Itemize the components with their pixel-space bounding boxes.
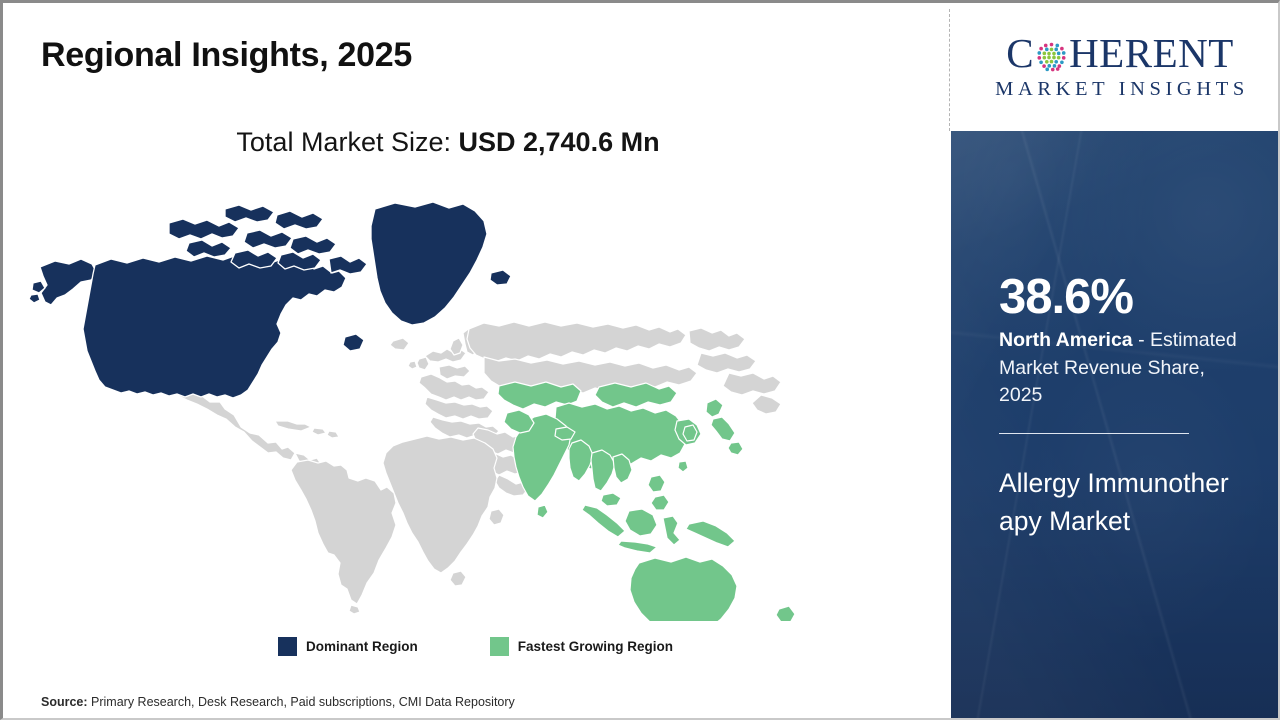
panel-divider: [949, 9, 950, 131]
legend-item-dominant: Dominant Region: [278, 637, 418, 656]
market-size-value: USD 2,740.6 Mn: [459, 127, 660, 157]
logo-tagline: MARKET INSIGHTS: [991, 78, 1249, 101]
share-region-name: North America: [999, 329, 1133, 351]
dotted-globe-icon: [1035, 39, 1068, 72]
source-label: Source:: [41, 695, 88, 709]
share-percentage: 38.6%: [999, 273, 1133, 322]
infographic-canvas: Regional Insights, 2025 Total Market Siz…: [0, 0, 1280, 720]
world-map: [29, 181, 859, 621]
world-map-svg: [29, 181, 859, 621]
left-panel: Regional Insights, 2025 Total Market Siz…: [3, 3, 948, 718]
legend-label-fastest: Fastest Growing Region: [518, 639, 673, 654]
brand-logo: C: [960, 3, 1280, 131]
logo-letter-c: C: [1006, 33, 1034, 74]
logo-wordmark: C: [1006, 33, 1234, 74]
source-text: Primary Research, Desk Research, Paid su…: [88, 695, 515, 709]
highlight-divider: [999, 433, 1189, 434]
market-title: Allergy Immunotherapy Market: [999, 465, 1231, 540]
legend-swatch-fastest: [490, 637, 509, 656]
total-market-size: Total Market Size: USD 2,740.6 Mn: [3, 127, 893, 158]
map-region-asia-pacific: [498, 382, 801, 621]
map-legend: Dominant Region Fastest Growing Region: [3, 637, 948, 656]
legend-swatch-dominant: [278, 637, 297, 656]
legend-label-dominant: Dominant Region: [306, 639, 418, 654]
legend-item-fastest-growing: Fastest Growing Region: [490, 637, 673, 656]
share-description: North America - Estimated Market Revenue…: [999, 327, 1247, 410]
logo-letters-herent: HERENT: [1069, 33, 1234, 74]
panel-background-texture: [951, 131, 1280, 718]
page-title: Regional Insights, 2025: [41, 36, 412, 75]
highlight-panel: 38.6% North America - Estimated Market R…: [951, 131, 1280, 718]
market-size-label: Total Market Size:: [236, 127, 451, 157]
source-note: Source: Primary Research, Desk Research,…: [41, 695, 515, 709]
